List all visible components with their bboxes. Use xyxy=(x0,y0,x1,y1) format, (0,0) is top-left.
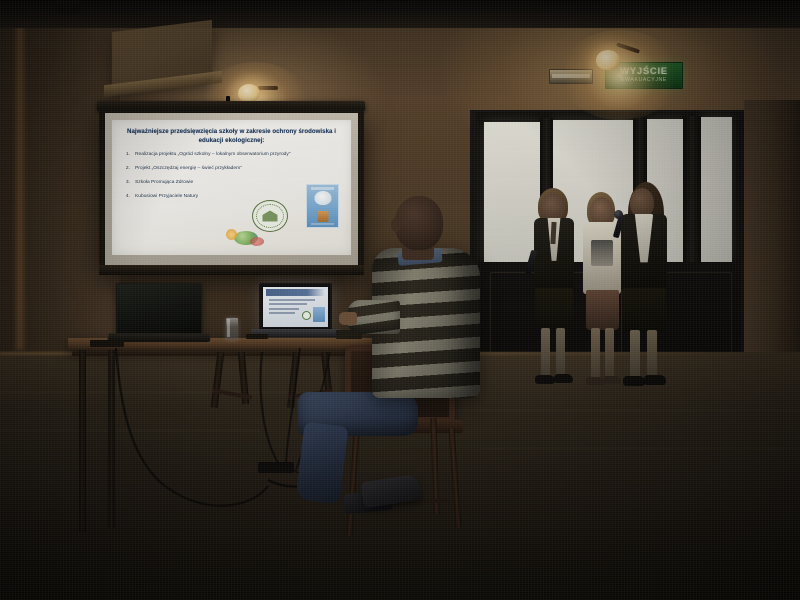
slide-list-item: 1. Realizacja projektu „Ogród szkolny – … xyxy=(119,152,344,158)
drinking-glass xyxy=(226,318,238,340)
lamp-arm xyxy=(258,86,278,90)
screen-canvas: Najważniejsze przedsięwzięcia szkoły w z… xyxy=(105,113,358,265)
laptop-poster-icon xyxy=(313,307,325,322)
girl-skirt xyxy=(586,290,619,330)
girl-skirt xyxy=(535,288,573,330)
nature-globe-image xyxy=(224,229,266,247)
microphone-head-icon xyxy=(614,210,623,219)
laptop-stamp-icon xyxy=(302,311,311,320)
lamp-shade xyxy=(596,50,620,70)
girl-skirt xyxy=(622,288,666,332)
girl-shoe xyxy=(535,375,555,384)
slide-title: Najważniejsze przedsięwzięcia szkoły w z… xyxy=(119,128,344,145)
slide-item-number: 2. xyxy=(123,166,130,172)
girl-shoe xyxy=(554,374,573,383)
girl-leg xyxy=(630,330,640,380)
girl-leg xyxy=(605,328,614,380)
floor-plank-line xyxy=(440,410,800,411)
left-wall-edge-highlight xyxy=(14,0,26,350)
leaf-accent-icon xyxy=(250,237,264,246)
presentation-room-photo: WYJŚCIE EWAKUACYJNE Najważniejsze przeds… xyxy=(0,0,800,600)
laptop-slide-line xyxy=(269,299,315,301)
slide-item-number: 1. xyxy=(123,152,130,158)
presenter-girl-right xyxy=(618,182,680,398)
girl-shoe xyxy=(586,377,604,385)
house-glyph-icon xyxy=(263,211,278,222)
projection-screen-bottom-bar xyxy=(99,265,364,275)
operator-hand xyxy=(339,312,357,325)
poster-caption-bar xyxy=(311,187,334,190)
poster-footer-bar xyxy=(311,223,334,225)
closed-dark-laptop-screen[interactable] xyxy=(116,283,202,335)
table-cable-clutter xyxy=(90,340,124,347)
school-health-stamp-icon xyxy=(252,200,288,232)
wall-sconce-right xyxy=(560,30,680,110)
energy-saving-poster-image xyxy=(306,184,339,228)
ceiling-fixture xyxy=(55,0,81,14)
presentation-table-apron xyxy=(72,349,382,356)
girl-shoe xyxy=(644,375,666,385)
table-leg xyxy=(79,350,86,532)
table-cable-clutter xyxy=(246,334,268,339)
laptop-slide-line xyxy=(269,308,299,310)
projection-screen: Najważniejsze przedsięwzięcia szkoły w z… xyxy=(99,108,364,274)
sun-icon xyxy=(226,229,237,240)
laptop-slide-title-bar xyxy=(266,289,325,296)
operator-head xyxy=(395,196,443,250)
door-mullion xyxy=(683,116,701,264)
girl-top-print xyxy=(591,240,613,266)
floor-plank-line xyxy=(0,392,300,393)
slide-item-text: Projekt „Oszczędzaj energię – świeć przy… xyxy=(135,166,344,172)
slide-item-number: 3. xyxy=(123,180,130,186)
ceiling xyxy=(0,0,800,28)
girl-leg xyxy=(647,330,657,380)
girl-shoe xyxy=(623,376,645,386)
girl-leg xyxy=(591,328,600,380)
operator-ear xyxy=(391,218,401,232)
laptop-slide-line xyxy=(269,312,295,314)
lightbulb-base-icon xyxy=(317,211,328,222)
table-leg xyxy=(108,350,115,528)
lightbulb-icon xyxy=(314,191,331,205)
girl-leg xyxy=(556,328,565,378)
slide-item-number: 4. xyxy=(123,194,130,200)
girl-head xyxy=(590,197,613,225)
floor-plank-line xyxy=(480,448,800,449)
girl-leg xyxy=(541,328,550,378)
door-glass-pane xyxy=(700,117,732,262)
slide-list-item: 2. Projekt „Oszczędzaj energię – świeć p… xyxy=(119,166,344,172)
projected-slide: Najważniejsze przedsięwzięcia szkoły w z… xyxy=(112,120,351,255)
laptop-slide-mirror xyxy=(263,287,328,327)
open-laptop-screen[interactable] xyxy=(259,283,332,331)
floor-plank-line xyxy=(0,430,260,431)
lamp-shade xyxy=(238,84,260,102)
slide-item-text: Realizacja projektu „Ogród szkolny – lok… xyxy=(135,152,344,158)
laptop-slide-line xyxy=(269,303,307,305)
